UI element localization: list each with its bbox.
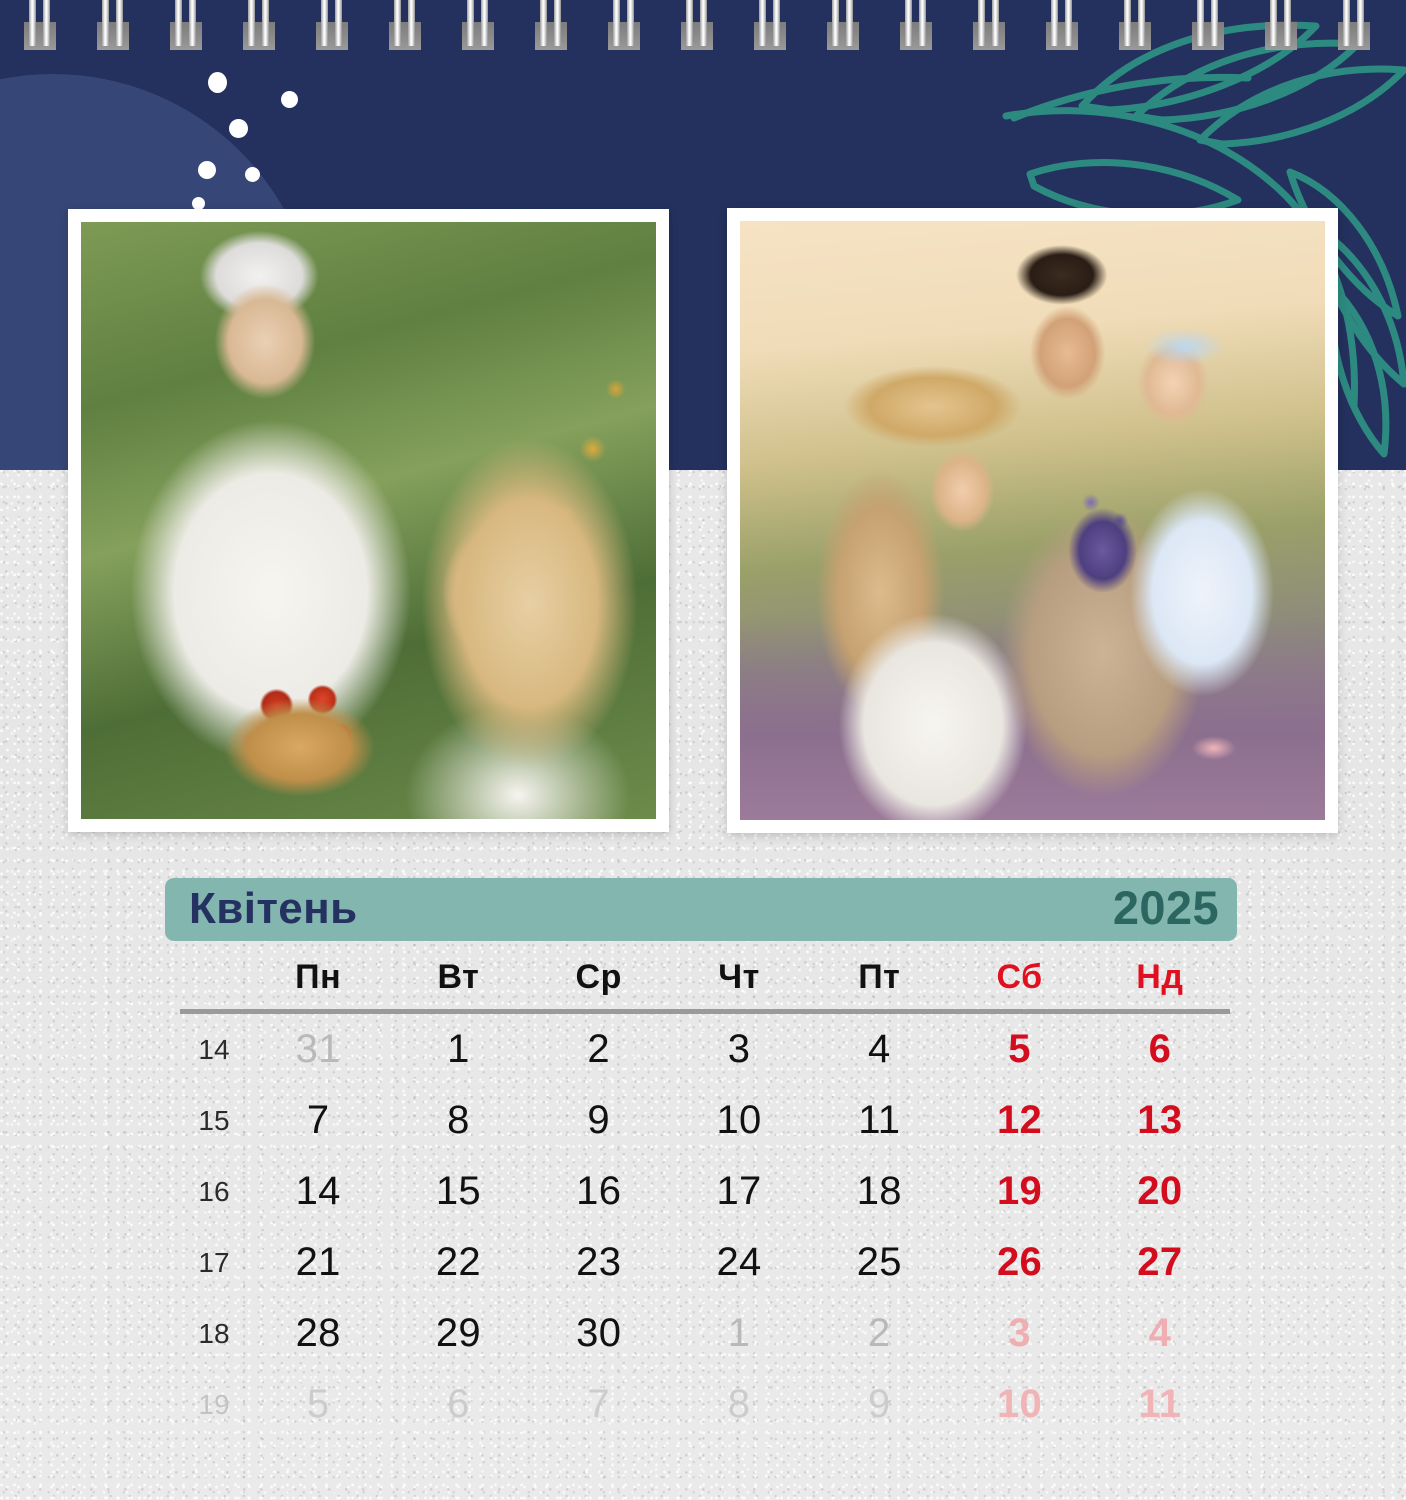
day-cell[interactable]: 3	[949, 1311, 1089, 1356]
day-cell[interactable]: 14	[248, 1169, 388, 1214]
spiral-ring	[606, 0, 642, 50]
day-cell[interactable]: 16	[529, 1169, 669, 1214]
day-cell[interactable]: 9	[529, 1098, 669, 1143]
spiral-ring	[387, 0, 423, 50]
weekday-header-sat: Сб	[949, 958, 1089, 997]
week-number: 14	[180, 1034, 248, 1066]
photo-family-lavender-field	[740, 221, 1325, 820]
calendar-title-bar: Квітень 2025	[165, 878, 1237, 941]
day-cell[interactable]: 10	[669, 1098, 809, 1143]
day-cell[interactable]: 27	[1090, 1240, 1230, 1285]
day-cell[interactable]: 8	[388, 1098, 528, 1143]
day-cell[interactable]: 7	[529, 1382, 669, 1427]
calendar-week-row: 18 28 29 30 1 2 3 4	[180, 1298, 1230, 1369]
month-name: Квітень	[189, 887, 358, 931]
day-cell[interactable]: 20	[1090, 1169, 1230, 1214]
day-cell[interactable]: 21	[248, 1240, 388, 1285]
week-number: 18	[180, 1318, 248, 1350]
calendar-week-row: 16 14 15 16 17 18 19 20	[180, 1156, 1230, 1227]
photo-grandmother-and-girl	[81, 222, 656, 819]
spiral-ring	[95, 0, 131, 50]
spiral-ring	[1044, 0, 1080, 50]
spiral-ring	[314, 0, 350, 50]
day-cell[interactable]: 9	[809, 1382, 949, 1427]
day-cell[interactable]: 26	[949, 1240, 1089, 1285]
year-label: 2025	[1113, 884, 1219, 931]
day-cell[interactable]: 22	[388, 1240, 528, 1285]
day-cell[interactable]: 3	[669, 1027, 809, 1072]
day-cell[interactable]: 23	[529, 1240, 669, 1285]
day-cell[interactable]: 12	[949, 1098, 1089, 1143]
day-cell[interactable]: 11	[1090, 1382, 1230, 1427]
week-number: 17	[180, 1247, 248, 1279]
weekday-header-fri: Пт	[809, 958, 949, 997]
weekday-header-thu: Чт	[669, 958, 809, 997]
spiral-ring	[460, 0, 496, 50]
spiral-ring	[1336, 0, 1372, 50]
calendar-page: Квітень 2025 Пн Вт Ср Чт Пт Сб Нд 14 31 …	[0, 0, 1406, 1500]
day-cell[interactable]: 13	[1090, 1098, 1230, 1143]
day-cell[interactable]: 17	[669, 1169, 809, 1214]
day-cell[interactable]: 2	[809, 1311, 949, 1356]
day-cell[interactable]: 4	[1090, 1311, 1230, 1356]
spiral-ring	[825, 0, 861, 50]
calendar-grid: Пн Вт Ср Чт Пт Сб Нд 14 31 1 2 3 4 5 6	[180, 948, 1230, 1440]
spiral-ring	[752, 0, 788, 50]
day-cell[interactable]: 1	[669, 1311, 809, 1356]
day-cell[interactable]: 31	[248, 1027, 388, 1072]
week-number: 19	[180, 1389, 248, 1421]
spiral-ring	[898, 0, 934, 50]
weekday-header-mon: Пн	[248, 958, 388, 997]
calendar-week-row: 15 7 8 9 10 11 12 13	[180, 1085, 1230, 1156]
week-number: 16	[180, 1176, 248, 1208]
spiral-ring	[679, 0, 715, 50]
day-cell[interactable]: 10	[949, 1382, 1089, 1427]
photo-frame-left	[68, 209, 669, 832]
day-cell[interactable]: 7	[248, 1098, 388, 1143]
day-cell[interactable]: 18	[809, 1169, 949, 1214]
spiral-ring	[241, 0, 277, 50]
day-cell[interactable]: 5	[949, 1027, 1089, 1072]
calendar-week-row: 17 21 22 23 24 25 26 27	[180, 1227, 1230, 1298]
spiral-ring	[1263, 0, 1299, 50]
day-cell[interactable]: 25	[809, 1240, 949, 1285]
spiral-ring	[1117, 0, 1153, 50]
day-cell[interactable]: 19	[949, 1169, 1089, 1214]
day-cell[interactable]: 8	[669, 1382, 809, 1427]
week-number: 15	[180, 1105, 248, 1137]
photo-frame-right	[727, 208, 1338, 833]
spiral-ring	[1190, 0, 1226, 50]
day-cell[interactable]: 4	[809, 1027, 949, 1072]
day-cell[interactable]: 15	[388, 1169, 528, 1214]
spiral-ring	[168, 0, 204, 50]
weekday-header-tue: Вт	[388, 958, 528, 997]
weekday-header-wed: Ср	[529, 958, 669, 997]
calendar-week-row: 14 31 1 2 3 4 5 6	[180, 1014, 1230, 1085]
day-cell[interactable]: 6	[388, 1382, 528, 1427]
day-cell[interactable]: 11	[809, 1098, 949, 1143]
spiral-ring	[533, 0, 569, 50]
day-cell[interactable]: 6	[1090, 1027, 1230, 1072]
day-cell[interactable]: 5	[248, 1382, 388, 1427]
day-cell[interactable]: 1	[388, 1027, 528, 1072]
day-cell[interactable]: 24	[669, 1240, 809, 1285]
spiral-ring	[22, 0, 58, 50]
spiral-binding	[0, 0, 1406, 56]
calendar-week-row: 19 5 6 7 8 9 10 11	[180, 1369, 1230, 1440]
spiral-ring	[971, 0, 1007, 50]
weekday-header-row: Пн Вт Ср Чт Пт Сб Нд	[180, 948, 1230, 1006]
day-cell[interactable]: 29	[388, 1311, 528, 1356]
weekday-header-sun: Нд	[1090, 958, 1230, 997]
day-cell[interactable]: 28	[248, 1311, 388, 1356]
day-cell[interactable]: 2	[529, 1027, 669, 1072]
day-cell[interactable]: 30	[529, 1311, 669, 1356]
